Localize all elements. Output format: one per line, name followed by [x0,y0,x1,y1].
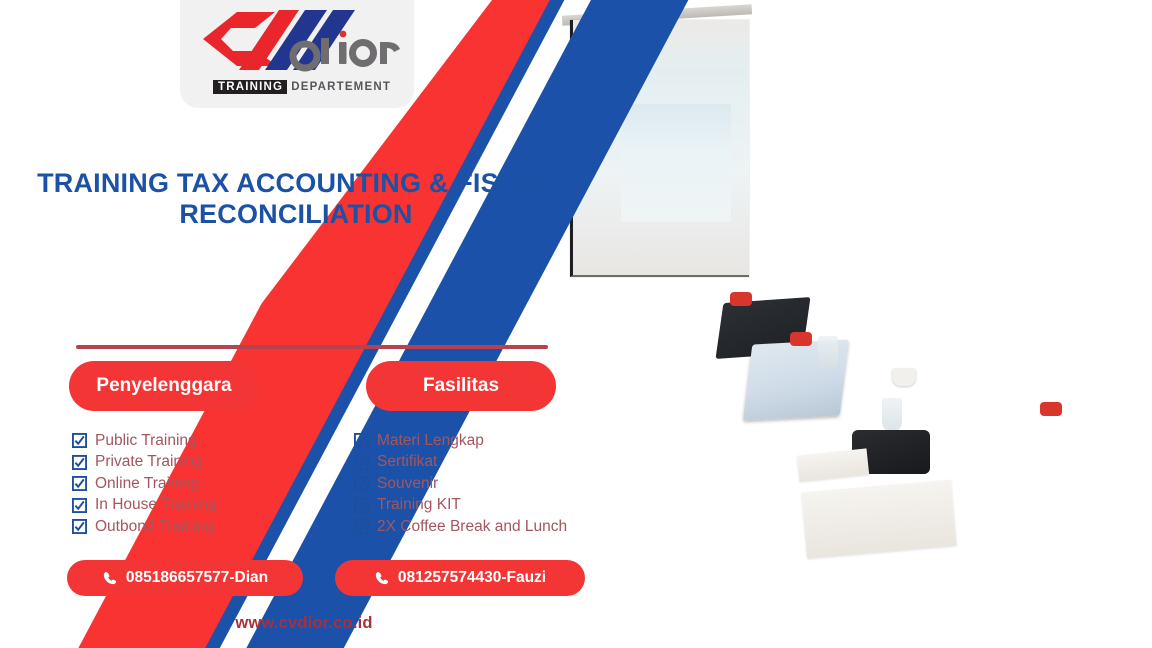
list-item: Sertifikat [354,452,567,474]
phone-icon [374,570,390,586]
list-item: Training KIT [354,495,567,517]
facilities-list: Materi Lengkap Sertifikat Souvenir Train… [354,430,567,538]
checkbox-checked-icon [72,476,87,491]
page-title: TRAINING TAX ACCOUNTING & FISCAL RECONCI… [0,168,592,230]
list-item-label: Souvenir [377,475,438,493]
paper-sheet-b [801,480,956,559]
red-bottle-cap-c [1040,402,1062,416]
phone-icon [102,570,118,586]
checkbox-checked-icon [72,519,87,534]
cv-dior-logo-icon [193,8,401,78]
contact-label: 085186657577-Dian [126,569,268,587]
list-item-label: Outbond Training [95,518,214,536]
drinking-glass-a [818,336,838,370]
checkbox-checked-icon [354,519,369,534]
checkbox-checked-icon [72,433,87,448]
logo-card: TRAINING DEPARTEMENT [180,0,414,108]
list-item: Materi Lengkap [354,430,567,452]
poster-root: TRAINING DEPARTEMENT TRAINING TAX ACCOUN… [0,0,1152,648]
list-item-label: 2X Coffee Break and Lunch [377,518,567,536]
section-divider [76,345,548,349]
list-item-label: Sertifikat [377,453,437,471]
checkbox-checked-icon [354,498,369,513]
red-bottle-cap-b [790,332,812,346]
list-item: Outbond Training [72,516,217,538]
red-bottle-cap-a [730,292,752,306]
contact-button-dian[interactable]: 085186657577-Dian [67,560,303,596]
contact-label: 081257574430-Fauzi [398,569,546,587]
logo-tagline-training: TRAINING [213,80,287,94]
projector-screen-image [621,104,731,222]
list-item: Public Training [72,430,217,452]
checkbox-checked-icon [72,455,87,470]
logo-tagline-departement: DEPARTEMENT [291,81,391,93]
training-photo [552,0,1152,648]
checkbox-checked-icon [354,433,369,448]
list-item-label: Training KIT [377,496,461,514]
drinking-glass-b [882,398,902,432]
brand-logo: TRAINING DEPARTEMENT [193,8,401,94]
heading-fasilitas: Fasilitas [366,361,556,411]
logo-tagline: TRAINING DEPARTEMENT [213,80,391,94]
list-item: In House Training [72,495,217,517]
contact-button-fauzi[interactable]: 081257574430-Fauzi [335,560,585,596]
list-item: Private Training [72,452,217,474]
checkbox-checked-icon [354,476,369,491]
list-item-label: Public Training [95,432,197,450]
heading-penyelenggara: Penyelenggara [69,361,259,411]
list-item-label: Materi Lengkap [377,432,484,450]
list-item: Souvenir [354,473,567,495]
checkbox-checked-icon [354,455,369,470]
list-item: 2X Coffee Break and Lunch [354,516,567,538]
list-item-label: Private Training [95,453,203,471]
coffee-cup [892,368,916,386]
list-item: Online Training [72,473,217,495]
list-item-label: Online Training [95,475,199,493]
website-url[interactable]: www.cvdior.co.id [0,614,608,633]
organizer-list: Public Training Private Training Online … [72,430,217,538]
list-item-label: In House Training [95,496,217,514]
checkbox-checked-icon [72,498,87,513]
